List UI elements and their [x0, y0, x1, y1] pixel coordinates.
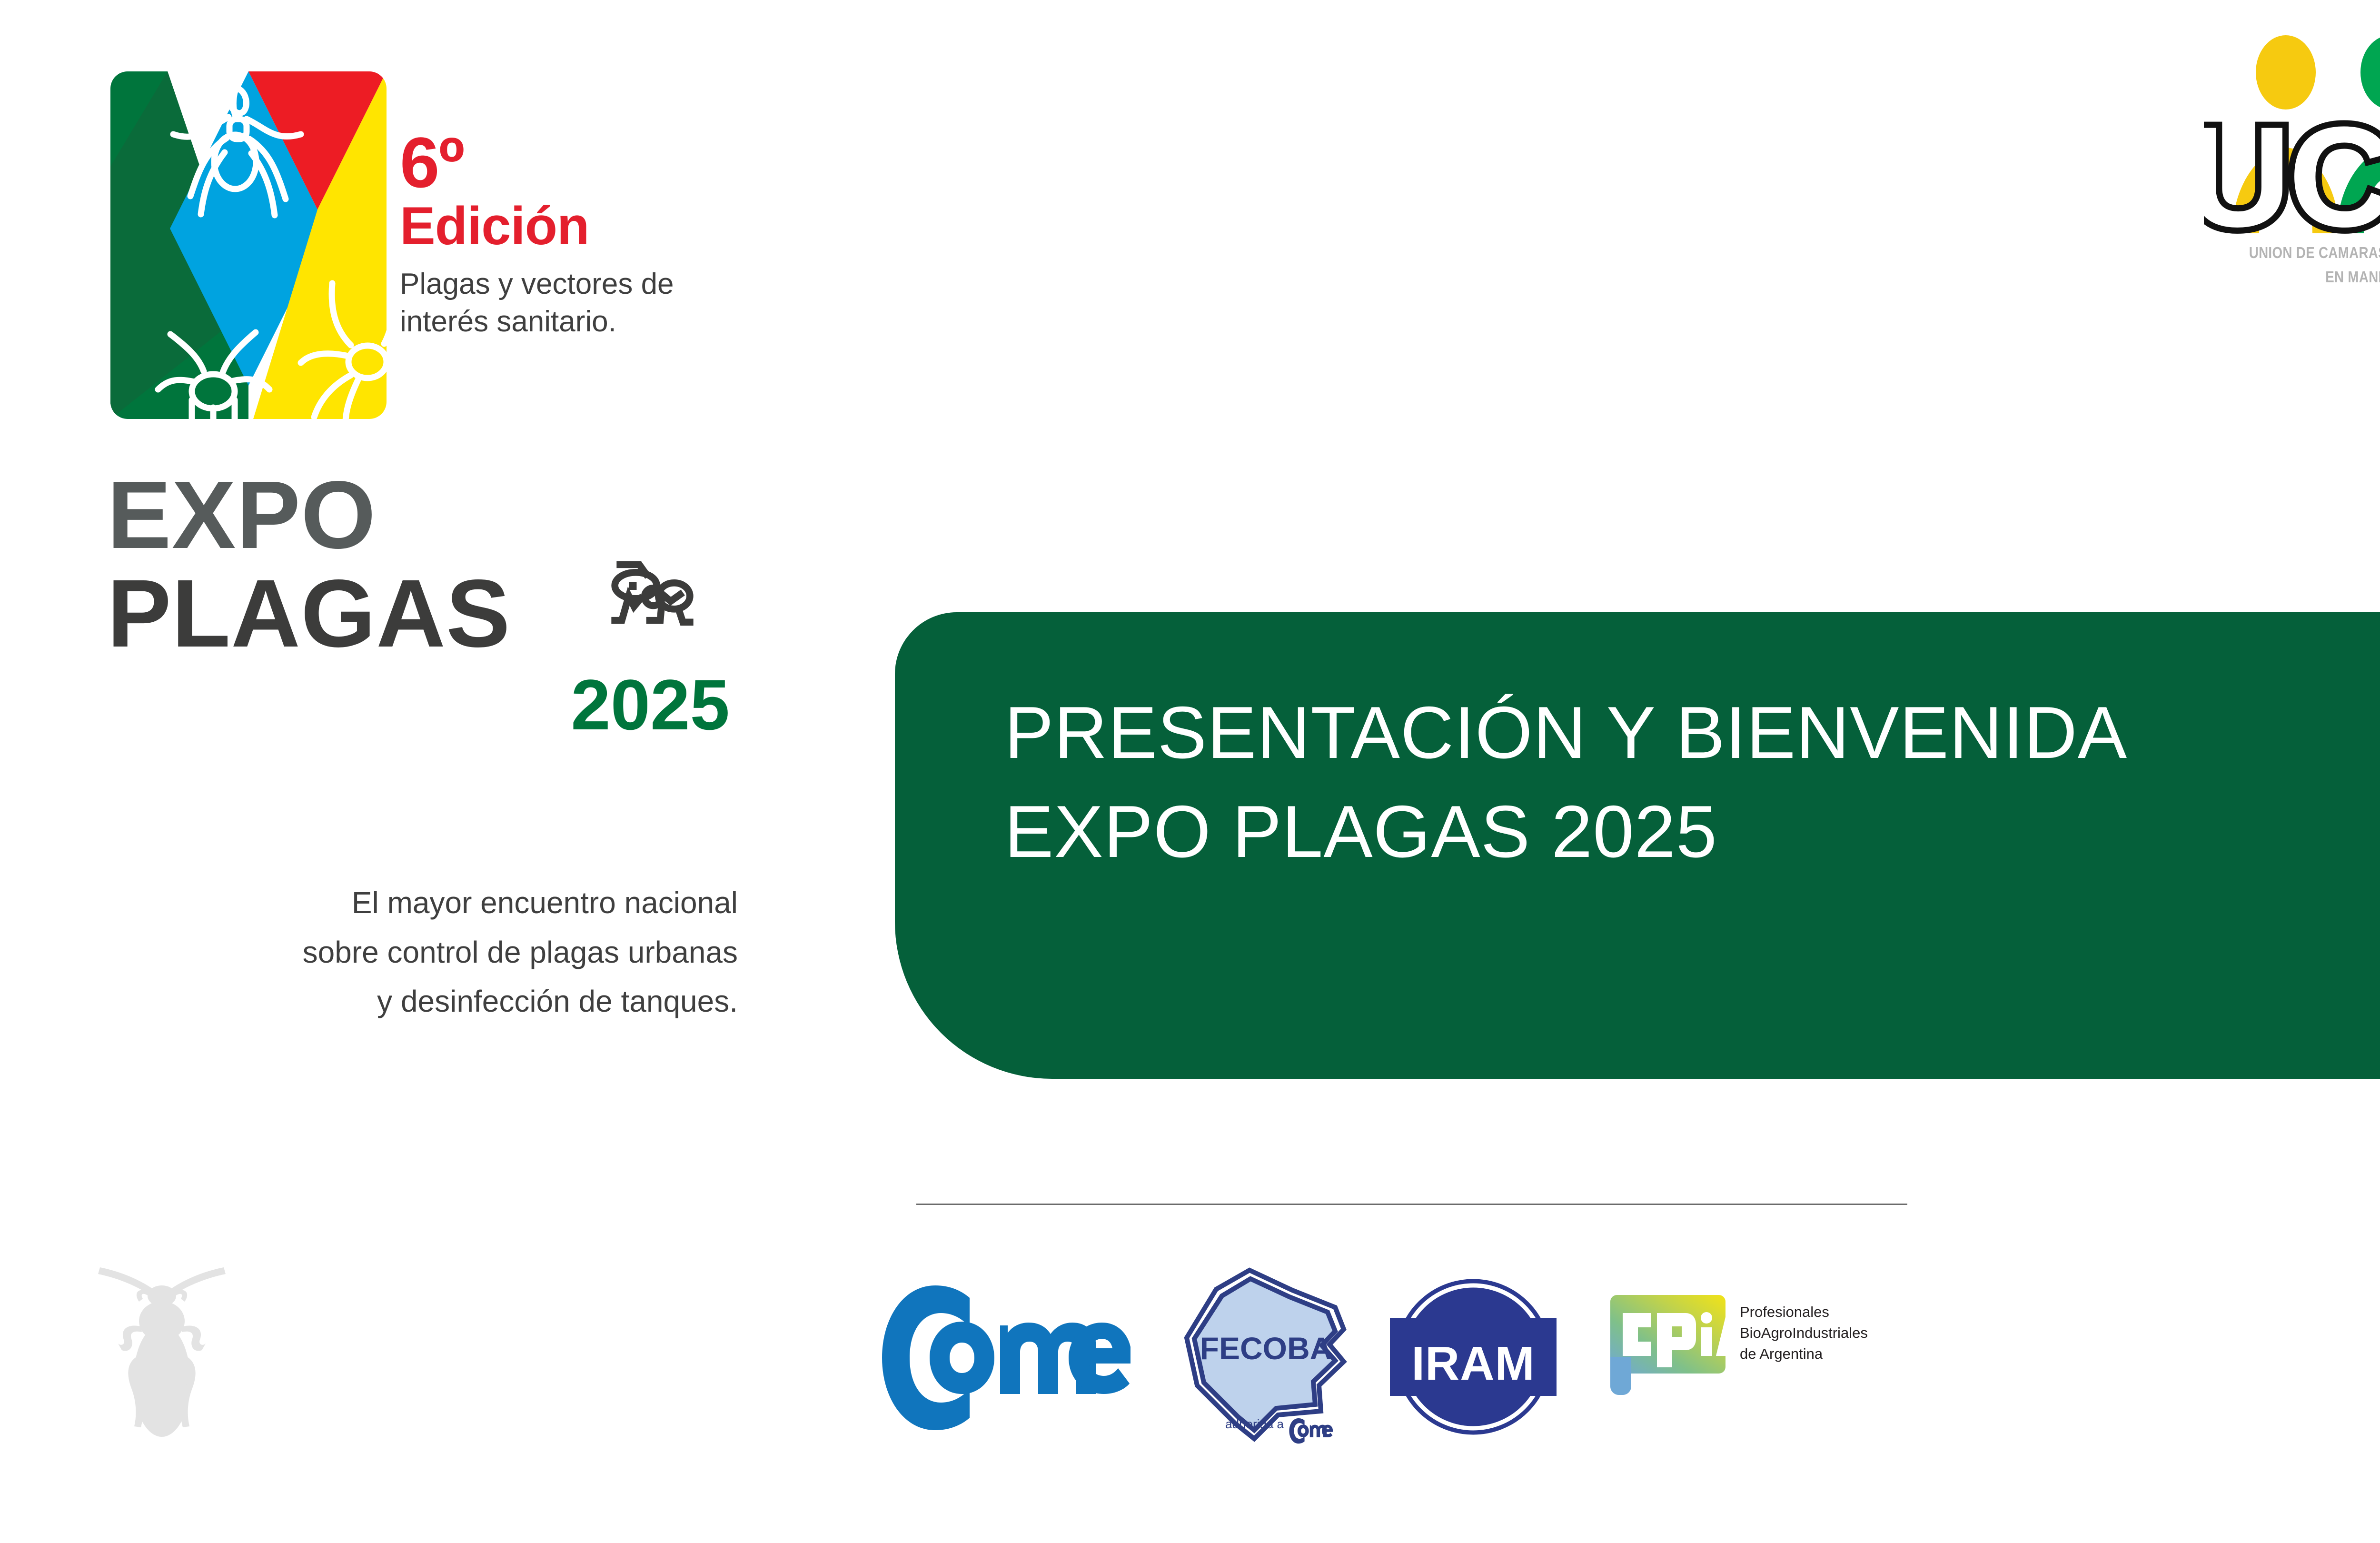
sponsor-divider	[916, 1204, 1907, 1205]
edition-word: Edición	[400, 199, 762, 253]
tagline-line1: El mayor encuentro nacional	[109, 878, 738, 928]
tagline-line3: y desinfección de tanques.	[109, 977, 738, 1026]
tagline-line2: sobre control de plagas urbanas	[109, 928, 738, 977]
cpia-desc-line1: Profesionales	[1740, 1304, 1829, 1320]
expo-plagas-square-logo-icon	[110, 71, 387, 419]
ucaba-subtitle-line2: EN MANEJO DE PLAGAS URBANAS	[2230, 265, 2380, 289]
sponsor-logo-fecoba: FECOBA adherida a	[1178, 1266, 1354, 1447]
sponsor-logo-row: FECOBA adherida a IRAM	[873, 1266, 1944, 1457]
sponsor-logo-came	[878, 1266, 1130, 1447]
iram-wordmark: IRAM	[1411, 1337, 1535, 1390]
fecoba-wordmark: FECOBA	[1200, 1331, 1333, 1366]
fecoba-adherida-label: adherida a	[1225, 1417, 1284, 1431]
ucaba-wordmark: UCABA	[2204, 98, 2380, 257]
ucaba-subtitle: UNION DE CAMARAS Y ASOCIACIONES DE BUENO…	[2230, 240, 2380, 289]
banner-title-line2: EXPO PLAGAS 2025	[1004, 782, 2380, 881]
expo-title-line1: EXPO	[107, 467, 735, 563]
brand-logo-block	[110, 71, 434, 419]
cpia-desc-line3: de Argentina	[1740, 1345, 1823, 1362]
ucaba-subtitle-line1: UNION DE CAMARAS Y ASOCIACIONES DE BUENO…	[2230, 240, 2380, 265]
sponsor-logo-iram: IRAM	[1390, 1266, 1557, 1447]
edition-subtitle-line1: Plagas y vectores de	[400, 265, 762, 303]
edition-number: 6º	[400, 129, 762, 197]
edition-subtitle: Plagas y vectores de interés sanitario.	[400, 265, 762, 341]
cpia-desc-line2: BioAgroIndustriales	[1740, 1324, 1868, 1341]
expo-year: 2025	[107, 666, 735, 744]
banner-title-line1: PRESENTACIÓN Y BIENVENIDA	[1004, 683, 2380, 782]
brand-tagline: El mayor encuentro nacional sobre contro…	[109, 878, 738, 1026]
ant-icon	[597, 554, 702, 642]
cockroach-silhouette-icon	[67, 1238, 257, 1476]
banner-title: PRESENTACIÓN Y BIENVENIDA EXPO PLAGAS 20…	[1004, 683, 2380, 881]
edition-subtitle-line2: interés sanitario.	[400, 303, 762, 340]
edition-block: 6º Edición Plagas y vectores de interés …	[400, 129, 762, 340]
cpia-descriptor: Profesionales BioAgroIndustriales de Arg…	[1740, 1304, 1868, 1362]
sponsor-logo-cpia: Profesionales BioAgroIndustriales de Arg…	[1602, 1266, 1925, 1447]
